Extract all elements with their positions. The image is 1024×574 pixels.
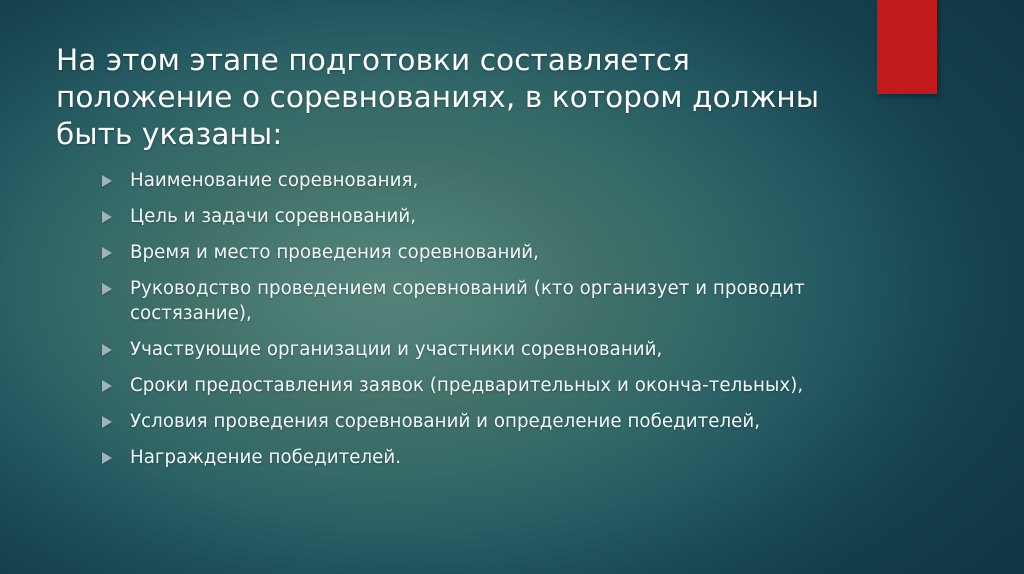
triangle-right-icon <box>102 175 112 187</box>
slide-title: На этом этапе подготовки составляется по… <box>56 42 856 153</box>
list-item-label: Условия проведения соревнований и опреде… <box>130 409 888 434</box>
list-item-label: Участвующие организации и участники соре… <box>130 337 888 362</box>
triangle-right-icon <box>102 247 112 259</box>
triangle-right-icon <box>102 416 112 428</box>
list-item: Время и место проведения соревнований, <box>98 240 888 265</box>
triangle-right-icon <box>102 283 112 295</box>
slide-bullet-list: Наименование соревнования, Цель и задачи… <box>98 168 888 470</box>
list-item: Цель и задачи соревнований, <box>98 204 888 229</box>
red-accent-rectangle <box>877 0 937 94</box>
list-item: Наименование соревнования, <box>98 168 888 193</box>
triangle-right-icon <box>102 344 112 356</box>
triangle-right-icon <box>102 211 112 223</box>
list-item: Участвующие организации и участники соре… <box>98 337 888 362</box>
list-item-label: Награждение победителей. <box>130 445 888 470</box>
list-item-label: Сроки предоставления заявок (предварител… <box>130 373 888 398</box>
list-item: Награждение победителей. <box>98 445 888 470</box>
list-item: Условия проведения соревнований и опреде… <box>98 409 888 434</box>
list-item-label: Цель и задачи соревнований, <box>130 204 888 229</box>
triangle-right-icon <box>102 452 112 464</box>
list-item: Сроки предоставления заявок (предварител… <box>98 373 888 398</box>
triangle-right-icon <box>102 380 112 392</box>
slide-title-line-1: На этом этапе подготовки составляется <box>56 42 856 79</box>
list-item-label: Наименование соревнования, <box>130 168 888 193</box>
slide-title-line-2: положение о соревнованиях, в котором дол… <box>56 79 856 116</box>
list-item: Руководство проведением соревнований (кт… <box>98 276 888 326</box>
slide-title-line-3: быть указаны: <box>56 116 856 153</box>
list-item-label: Руководство проведением соревнований (кт… <box>130 276 888 326</box>
list-item-label: Время и место проведения соревнований, <box>130 240 888 265</box>
presentation-slide: На этом этапе подготовки составляется по… <box>0 0 1024 574</box>
